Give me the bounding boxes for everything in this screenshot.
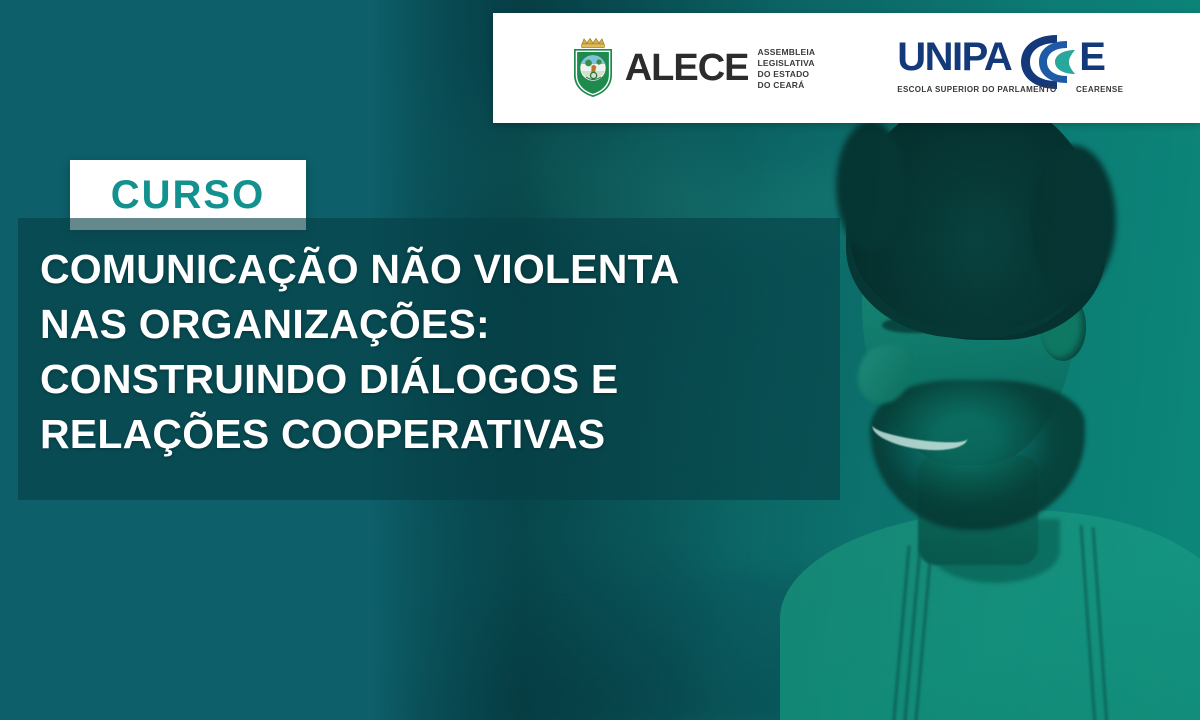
- unipace-subtitle-right: CEARENSE: [1076, 85, 1123, 94]
- curso-badge-label: CURSO: [111, 173, 265, 218]
- institutional-logo-header: ALECE ASSEMBLEIA LEGISLATIVA DO ESTADO D…: [493, 13, 1200, 123]
- alece-subtitle-line: LEGISLATIVA: [758, 58, 816, 69]
- alece-logo: ALECE ASSEMBLEIA LEGISLATIVA DO ESTADO D…: [570, 37, 816, 99]
- course-banner: ALECE ASSEMBLEIA LEGISLATIVA DO ESTADO D…: [0, 0, 1200, 720]
- unipace-logo: UNIPA E ESCOLA SUPERIOR DO PARLAMENTO CE…: [893, 33, 1123, 103]
- alece-subtitle: ASSEMBLEIA LEGISLATIVA DO ESTADO DO CEAR…: [758, 45, 816, 92]
- alece-subtitle-line: ASSEMBLEIA: [758, 47, 816, 58]
- unipace-wordmark-end: E: [1079, 37, 1106, 77]
- alece-ceara-coat-of-arms-icon: [570, 37, 616, 99]
- unipace-subtitle-left: ESCOLA SUPERIOR DO PARLAMENTO: [897, 85, 1056, 94]
- course-title: COMUNICAÇÃO NÃO VIOLENTA NAS ORGANIZAÇÕE…: [40, 242, 850, 462]
- alece-wordmark: ALECE: [625, 49, 749, 87]
- unipace-wordmark: UNIPA: [897, 37, 1011, 77]
- alece-subtitle-line: DO CEARÁ: [758, 80, 816, 91]
- alece-subtitle-line: DO ESTADO: [758, 69, 816, 80]
